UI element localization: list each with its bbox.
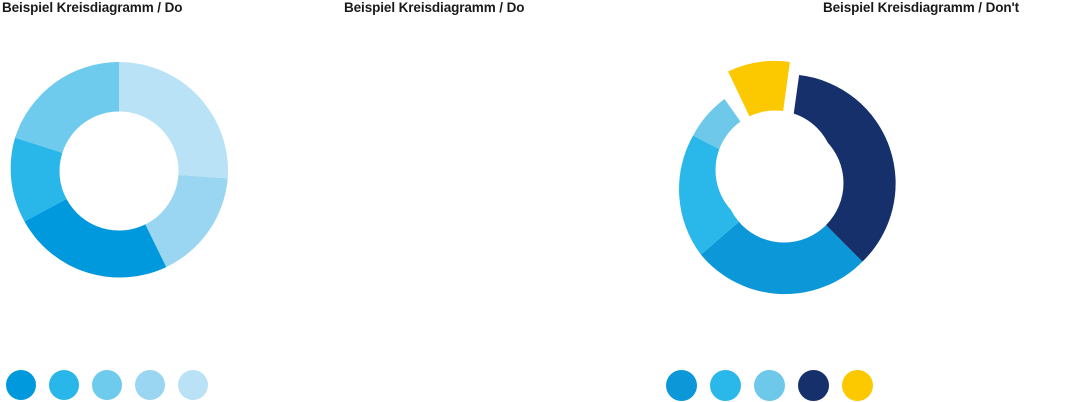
color-swatch [92,370,122,400]
color-swatch-row-1 [6,370,208,400]
chart-panel-do-1: Beispiel Kreisdiagramm / Do [0,0,330,402]
panel-title: Beispiel Kreisdiagramm / Do [2,0,182,16]
panel-title: Beispiel Kreisdiagramm / Do [344,0,524,16]
color-swatch [178,370,208,400]
panel-title: Beispiel Kreisdiagramm / Don't [823,0,1019,16]
color-swatch [135,370,165,400]
color-swatch [710,370,741,401]
chart-panel-dont: Beispiel Kreisdiagramm / Don't [780,0,1082,402]
color-swatch [49,370,79,400]
donut-chart-1-svg [6,58,236,288]
chart-panel-do-2: Beispiel Kreisdiagramm / Do [330,0,620,402]
donut-chart-1 [6,58,236,288]
donut-1-hole [60,112,179,231]
color-swatch [6,370,36,400]
color-swatch [666,370,697,401]
